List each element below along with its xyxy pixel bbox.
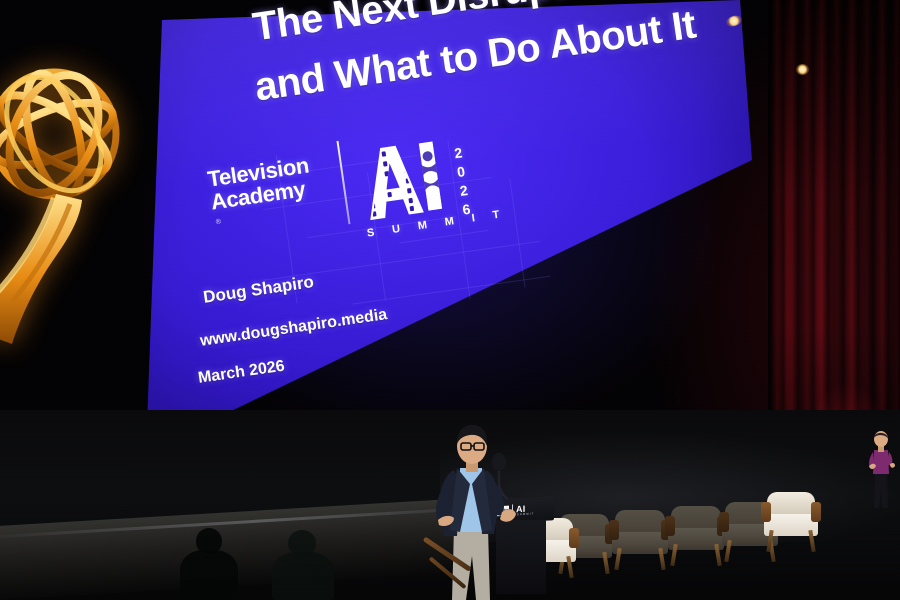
year-digit-0: 2: [453, 143, 463, 163]
second-presenter: [866, 430, 896, 508]
chair-5: [764, 478, 818, 552]
chair-2: [612, 494, 668, 570]
year-digit-1: 0: [456, 162, 466, 182]
stage-scene: The Next Disruption of Media— and What t…: [0, 0, 900, 600]
audience-silhouette-right-body: [272, 552, 334, 600]
ai-summit-logo-icon: [355, 138, 450, 222]
keynote-speaker: [424, 424, 534, 600]
chair-3: [668, 490, 724, 566]
year-digit-3: 6: [461, 200, 471, 220]
year-digit-2: 2: [459, 181, 469, 201]
registered-trademark-mark: ®: [215, 218, 221, 226]
ceiling-spot-light-b: [796, 64, 809, 75]
year-2026-stack: 2 0 2 6: [453, 143, 472, 219]
audience-silhouette-left-body: [180, 550, 238, 600]
lockup-divider: [336, 141, 350, 224]
emmy-statuette: [0, 22, 174, 352]
